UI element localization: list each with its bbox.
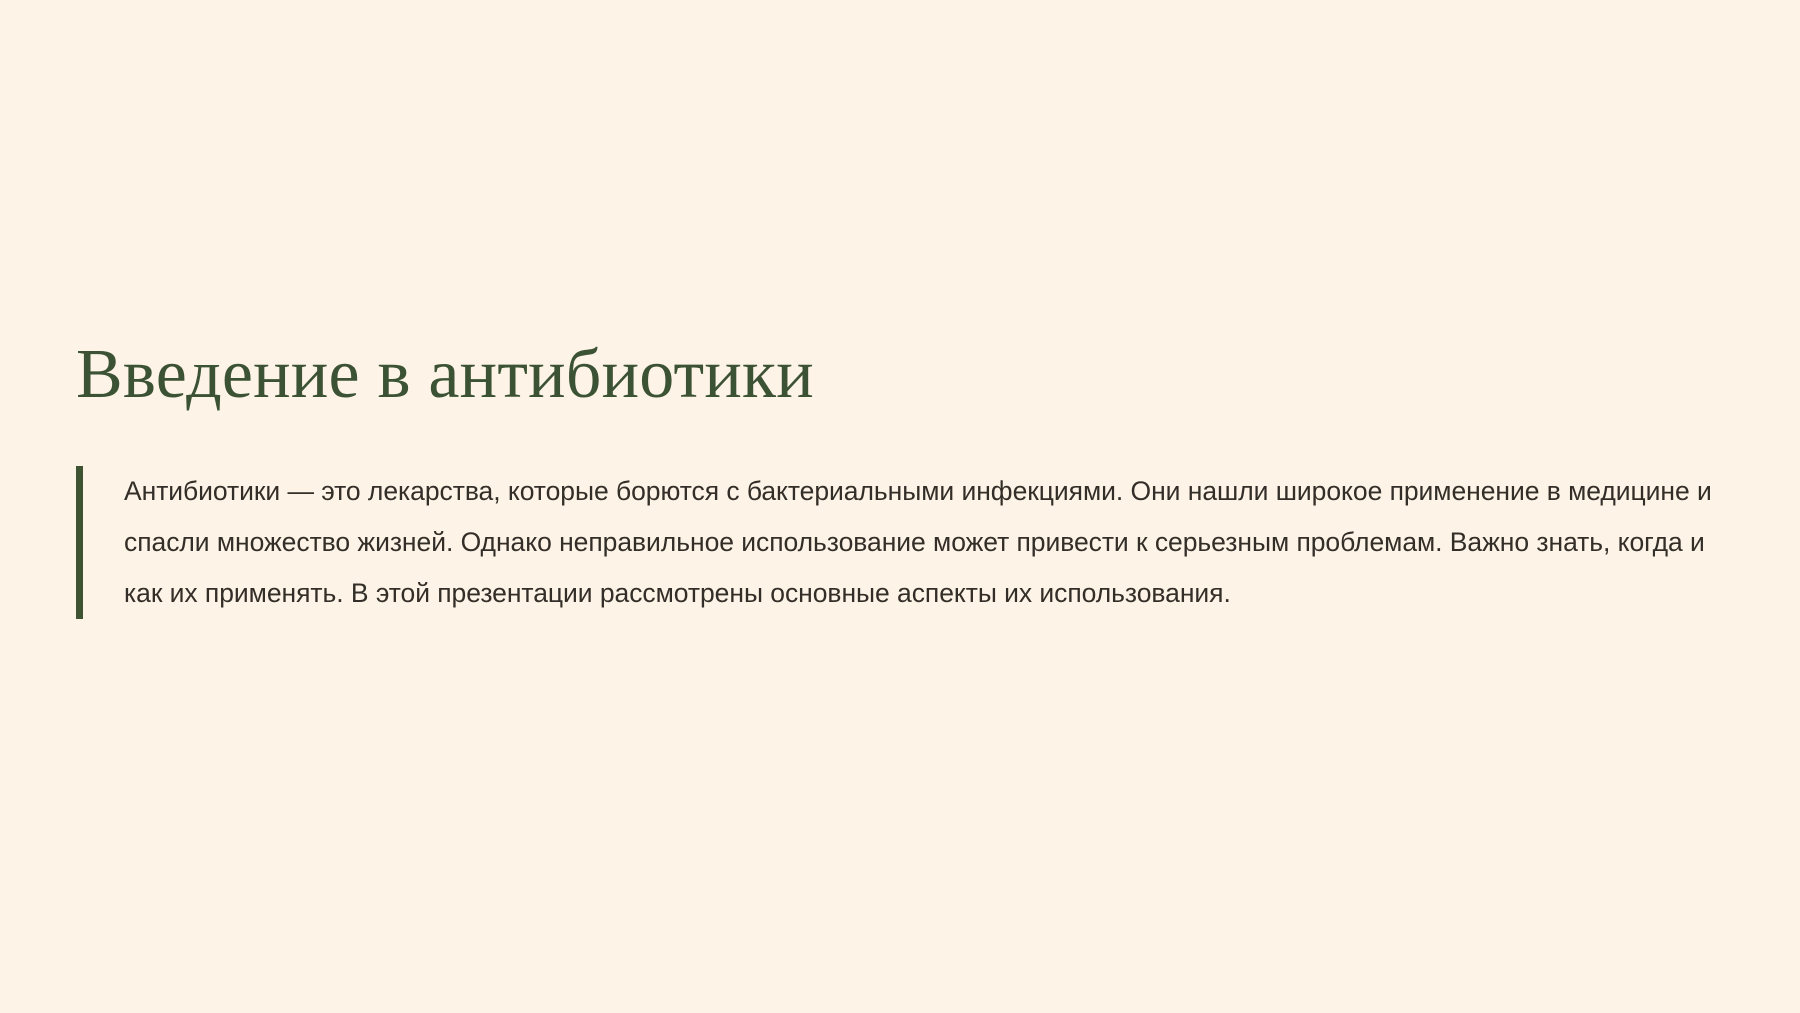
presentation-slide: Введение в антибиотики Антибиотики — это… [0,0,1800,1013]
accent-bar [76,466,83,619]
page-title: Введение в антибиотики [76,338,814,412]
body-quote-block: Антибиотики — это лекарства, которые бор… [76,466,1736,619]
body-paragraph: Антибиотики — это лекарства, которые бор… [83,466,1734,619]
